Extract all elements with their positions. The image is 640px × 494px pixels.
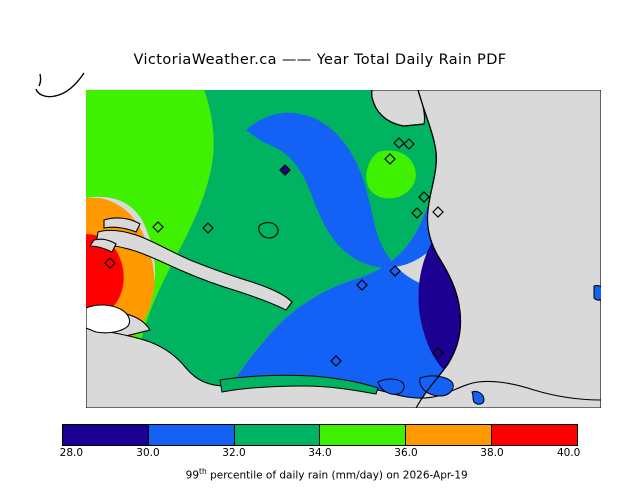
colorbar-band-3[interactable] bbox=[320, 425, 406, 445]
colorbar-band-0[interactable] bbox=[63, 425, 149, 445]
colorbar[interactable] bbox=[62, 424, 578, 446]
colorbar-caption: 99th percentile of daily rain (mm/day) o… bbox=[0, 455, 640, 494]
page-title: VictoriaWeather.ca —— Year Total Daily R… bbox=[0, 52, 640, 68]
colorbar-band-5[interactable] bbox=[492, 425, 577, 445]
caption-superscript: th bbox=[199, 467, 207, 476]
contour-map-svg bbox=[86, 90, 601, 408]
weather-map-page: VictoriaWeather.ca —— Year Total Daily R… bbox=[0, 0, 640, 480]
colorbar-band-2[interactable] bbox=[235, 425, 321, 445]
contour-map-plot[interactable] bbox=[86, 90, 601, 408]
stray-coastline-sketch bbox=[28, 55, 92, 101]
colorbar-band-4[interactable] bbox=[406, 425, 492, 445]
colorbar-band-1[interactable] bbox=[149, 425, 235, 445]
colorbar-container: 28.030.032.034.036.038.040.0 bbox=[62, 424, 578, 446]
inlet-east-small bbox=[594, 285, 601, 300]
